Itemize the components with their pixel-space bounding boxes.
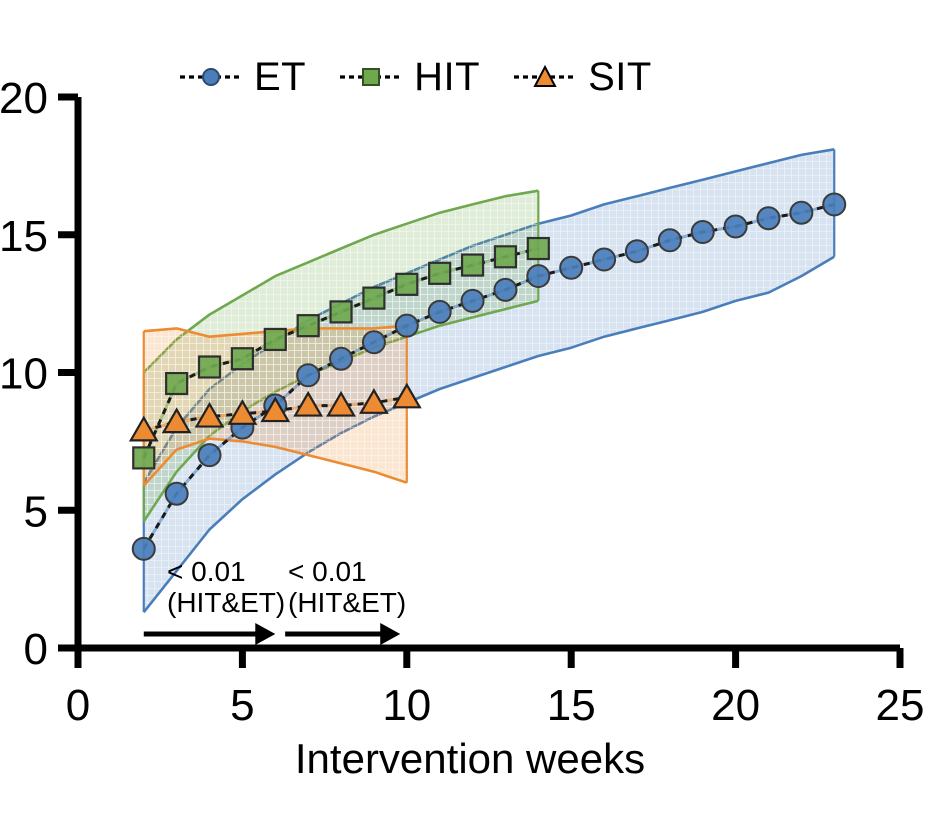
data-point	[528, 238, 549, 259]
x-tick-label: 5	[230, 681, 254, 730]
data-point	[331, 301, 352, 322]
data-point	[298, 315, 319, 336]
triangle-marker-icon	[514, 65, 576, 89]
legend-label-sit: SIT	[588, 57, 652, 97]
legend-label-et: ET	[254, 57, 306, 97]
y-tick-label: 0	[24, 625, 48, 674]
data-point	[166, 373, 187, 394]
x-tick-label: 20	[711, 681, 760, 730]
data-point	[790, 202, 812, 224]
significance-groups-2: (HIT&ET)	[288, 587, 406, 618]
data-point	[429, 263, 450, 284]
data-point	[297, 364, 319, 386]
legend-item-et: ET	[180, 57, 340, 97]
data-point	[659, 229, 681, 251]
data-point	[199, 444, 221, 466]
data-point	[626, 240, 648, 262]
y-tick-label: 15	[0, 212, 48, 261]
data-point	[396, 274, 417, 295]
data-point	[692, 221, 714, 243]
data-point	[363, 288, 384, 309]
x-tick-label: 10	[382, 681, 431, 730]
chart-canvas: 051015202505101520	[0, 0, 940, 822]
x-tick-label: 15	[547, 681, 596, 730]
data-point	[462, 290, 484, 312]
x-tick-label: 25	[876, 681, 925, 730]
x-axis-title: Intervention weeks	[0, 735, 940, 783]
data-point	[527, 265, 549, 287]
y-tick-label: 10	[0, 350, 48, 399]
square-marker-icon	[340, 65, 402, 89]
data-point	[495, 246, 516, 267]
legend-label-hit: HIT	[414, 57, 480, 97]
chart-figure: 051015202505101520 ET HIT SIT < 0.01	[0, 0, 940, 822]
data-point	[725, 215, 747, 237]
data-point	[133, 447, 154, 468]
significance-arrow-head-2	[380, 623, 400, 645]
data-point	[396, 315, 418, 337]
x-tick-label: 0	[66, 681, 90, 730]
data-point	[199, 356, 220, 377]
significance-groups-1: (HIT&ET)	[167, 587, 285, 618]
chart-legend: ET HIT SIT	[180, 48, 740, 106]
data-point	[232, 348, 253, 369]
y-tick-label: 20	[0, 74, 48, 123]
circle-marker-icon	[180, 65, 242, 89]
significance-pvalue-2: < 0.01	[288, 556, 406, 587]
data-point	[593, 249, 615, 271]
significance-pvalue-1: < 0.01	[167, 556, 285, 587]
data-point	[429, 301, 451, 323]
data-point	[462, 255, 483, 276]
y-tick-label: 5	[24, 487, 48, 536]
data-point	[823, 193, 845, 215]
data-point	[560, 257, 582, 279]
data-point	[133, 538, 155, 560]
data-point	[166, 483, 188, 505]
data-point	[265, 329, 286, 350]
legend-item-sit: SIT	[514, 57, 686, 97]
data-point	[494, 279, 516, 301]
data-point	[757, 207, 779, 229]
legend-item-hit: HIT	[340, 57, 514, 97]
significance-annotation-2: < 0.01 (HIT&ET)	[288, 556, 406, 619]
significance-arrow-head-1	[255, 623, 275, 645]
data-point	[330, 348, 352, 370]
data-point	[363, 331, 385, 353]
significance-annotation-1: < 0.01 (HIT&ET)	[167, 556, 285, 619]
